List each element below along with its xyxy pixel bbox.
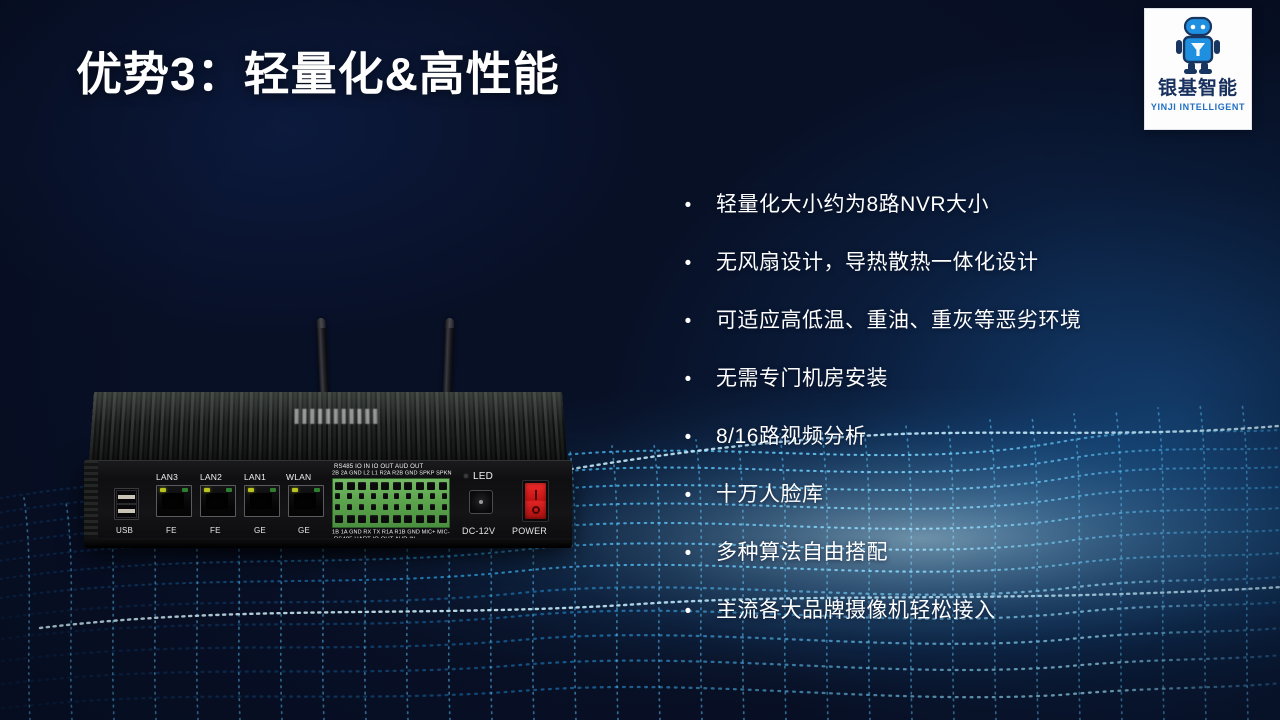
terminal-screw-row bbox=[335, 493, 447, 499]
list-item: • 8/16路视频分析 bbox=[680, 420, 1240, 478]
bullet-text: 可适应高低温、重油、重灰等恶劣环境 bbox=[716, 304, 1082, 334]
dc-label: DC-12V bbox=[462, 526, 495, 536]
bullet-marker-icon: • bbox=[680, 486, 696, 505]
terminal-top-pin-labels: 2B 2A GND L2 L1 R2A R2B GND SPKP SPKN bbox=[332, 469, 452, 476]
bullet-marker-icon: • bbox=[680, 312, 696, 331]
feature-bullet-list: • 轻量化大小约为8路NVR大小 • 无风扇设计，导热散热一体化设计 • 可适应… bbox=[680, 188, 1240, 652]
bullet-marker-icon: • bbox=[680, 428, 696, 447]
bullet-text: 主流各大品牌摄像机轻松接入 bbox=[716, 594, 996, 624]
bullet-text: 轻量化大小约为8路NVR大小 bbox=[716, 188, 989, 218]
list-item: • 多种算法自由搭配 bbox=[680, 536, 1240, 594]
usb-label: USB bbox=[116, 526, 133, 535]
bullet-text: 无风扇设计，导热散热一体化设计 bbox=[716, 246, 1039, 276]
wlan-top-label: WLAN bbox=[286, 472, 311, 482]
lan1-top-label: LAN1 bbox=[244, 472, 266, 482]
list-item: • 轻量化大小约为8路NVR大小 bbox=[680, 188, 1240, 246]
slide-canvas: 优势3：轻量化&高性能 银基智能 YINJI INTELLIGENT bbox=[0, 0, 1280, 720]
bullet-marker-icon: • bbox=[680, 602, 696, 621]
bullet-text: 无需专门机房安装 bbox=[716, 362, 888, 392]
wlan-bottom-label: GE bbox=[298, 526, 310, 535]
lan3-top-label: LAN3 bbox=[156, 472, 178, 482]
led-indicator bbox=[464, 474, 468, 478]
company-logo: 银基智能 YINJI INTELLIGENT bbox=[1144, 8, 1252, 130]
power-switch[interactable] bbox=[522, 480, 549, 522]
bullet-text: 8/16路视频分析 bbox=[716, 420, 866, 450]
dc-power-jack bbox=[469, 490, 493, 514]
led-label: LED bbox=[473, 471, 493, 482]
list-item: • 无风扇设计，导热散热一体化设计 bbox=[680, 246, 1240, 304]
lan3-bottom-label: FE bbox=[166, 526, 177, 535]
lan2-top-label: LAN2 bbox=[200, 472, 222, 482]
usb-port bbox=[116, 490, 137, 504]
bullet-marker-icon: • bbox=[680, 254, 696, 273]
power-off-mark-icon bbox=[532, 506, 540, 514]
power-on-mark-icon bbox=[535, 490, 537, 500]
rj45-port-lan2 bbox=[200, 485, 236, 517]
terminal-bottom-pin-labels: 1B 1A GND RX TX R1A R1B GND MIC+ MIC- bbox=[332, 528, 450, 535]
bullet-marker-icon: • bbox=[680, 370, 696, 389]
usb-port-stack bbox=[114, 488, 139, 520]
terminal-pin-row bbox=[335, 515, 447, 523]
power-label: POWER bbox=[512, 526, 547, 536]
power-rocker[interactable] bbox=[525, 483, 546, 519]
terminal-pin-row bbox=[335, 482, 447, 490]
lan1-bottom-label: GE bbox=[254, 526, 266, 535]
rj45-port-lan3 bbox=[156, 485, 192, 517]
lan2-bottom-label: FE bbox=[210, 526, 221, 535]
chassis-front-panel: USB LAN3 FE LAN2 FE LAN1 GE WLAN GE RS48… bbox=[84, 460, 572, 548]
antenna-left bbox=[316, 318, 328, 394]
list-item: • 可适应高低温、重油、重灰等恶劣环境 bbox=[680, 304, 1240, 362]
bullet-text: 多种算法自由搭配 bbox=[716, 536, 888, 566]
logo-english-name: YINJI INTELLIGENT bbox=[1151, 102, 1245, 112]
top-plate-label bbox=[295, 409, 380, 424]
device-shadow bbox=[98, 546, 558, 562]
list-item: • 无需专门机房安装 bbox=[680, 362, 1240, 420]
chassis-left-edge bbox=[84, 460, 98, 548]
bullet-marker-icon: • bbox=[680, 544, 696, 563]
logo-chinese-name: 银基智能 bbox=[1158, 79, 1238, 98]
device-photo: USB LAN3 FE LAN2 FE LAN1 GE WLAN GE RS48… bbox=[78, 300, 578, 555]
usb-port bbox=[116, 504, 137, 518]
terminal-block-connector bbox=[332, 478, 450, 528]
robot-icon bbox=[1170, 15, 1226, 77]
rj45-port-wlan bbox=[288, 485, 324, 517]
list-item: • 十万人脸库 bbox=[680, 478, 1240, 536]
rj45-port-lan1 bbox=[244, 485, 280, 517]
bullet-text: 十万人脸库 bbox=[716, 478, 824, 508]
antenna-right bbox=[443, 318, 455, 394]
terminal-screw-row bbox=[335, 504, 447, 510]
list-item: • 主流各大品牌摄像机轻松接入 bbox=[680, 594, 1240, 652]
bullet-marker-icon: • bbox=[680, 196, 696, 215]
page-title: 优势3：轻量化&高性能 bbox=[76, 38, 560, 104]
